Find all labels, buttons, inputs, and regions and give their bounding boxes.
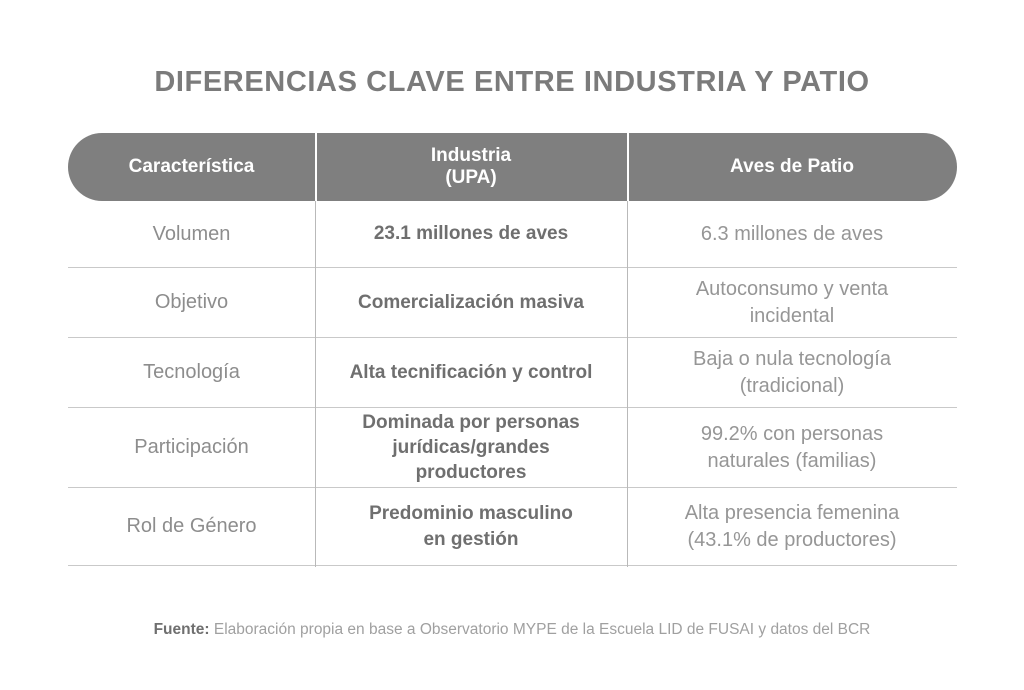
source-note: Fuente: Elaboración propia en base a Obs… (0, 621, 1024, 639)
cell-backyard: 99.2% con personas naturales (familias) (627, 408, 957, 487)
column-header-industria: Industria (UPA) (315, 133, 627, 201)
column-header-industria-line2: (UPA) (431, 167, 511, 189)
cell-industry: Alta tecnificación y control (315, 338, 627, 407)
table-header-row: Característica Industria (UPA) Aves de P… (68, 133, 957, 201)
table-row: Rol de Género Predominio masculino en ge… (68, 488, 957, 566)
cell-industry: Dominada por personas jurídicas/grandes … (315, 408, 627, 487)
table-row: Objetivo Comercialización masiva Autocon… (68, 268, 957, 338)
cell-industry-line2: jurídicas/grandes (362, 435, 580, 460)
cell-industry-line1: 23.1 millones de aves (374, 221, 568, 246)
cell-industry-line1: Predominio masculino (369, 501, 573, 526)
table-body: Volumen 23.1 millones de aves 6.3 millon… (68, 201, 957, 566)
cell-industry-line1: Comercialización masiva (358, 290, 584, 315)
cell-backyard-line2: naturales (familias) (701, 448, 883, 474)
cell-backyard-line1: Autoconsumo y venta (696, 276, 888, 302)
column-header-aves-de-patio: Aves de Patio (627, 133, 957, 201)
column-header-caracteristica-line1: Característica (129, 156, 255, 178)
column-header-aves-de-patio-line1: Aves de Patio (730, 156, 854, 178)
cell-feature: Objetivo (68, 268, 315, 337)
cell-industry-line1: Dominada por personas (362, 410, 580, 435)
cell-backyard-line2: (tradicional) (693, 373, 891, 399)
cell-industry: 23.1 millones de aves (315, 201, 627, 267)
table-row: Participación Dominada por personas jurí… (68, 408, 957, 488)
column-header-industria-line1: Industria (431, 145, 511, 167)
cell-backyard: Autoconsumo y venta incidental (627, 268, 957, 337)
source-label: Fuente: (154, 621, 210, 638)
cell-backyard: Baja o nula tecnología (tradicional) (627, 338, 957, 407)
cell-industry-line1: Alta tecnificación y control (350, 360, 593, 385)
comparison-table: Característica Industria (UPA) Aves de P… (68, 133, 957, 566)
cell-industry-line2: en gestión (369, 527, 573, 552)
cell-backyard: 6.3 millones de aves (627, 201, 957, 267)
cell-backyard: Alta presencia femenina (43.1% de produc… (627, 488, 957, 565)
cell-industry: Predominio masculino en gestión (315, 488, 627, 565)
table-row: Tecnología Alta tecnificación y control … (68, 338, 957, 408)
cell-feature: Volumen (68, 201, 315, 267)
column-header-caracteristica: Característica (68, 133, 315, 201)
cell-industry: Comercialización masiva (315, 268, 627, 337)
infographic-table-page: DIFERENCIAS CLAVE ENTRE INDUSTRIA Y PATI… (0, 0, 1024, 690)
page-title: DIFERENCIAS CLAVE ENTRE INDUSTRIA Y PATI… (0, 66, 1024, 99)
cell-backyard-line1: Baja o nula tecnología (693, 346, 891, 372)
cell-backyard-line2: incidental (696, 303, 888, 329)
cell-backyard-line1: Alta presencia femenina (685, 500, 900, 526)
cell-backyard-line1: 6.3 millones de aves (701, 221, 883, 247)
source-text: Elaboración propia en base a Observatori… (210, 621, 871, 638)
cell-industry-line3: productores (362, 460, 580, 485)
cell-feature: Participación (68, 408, 315, 487)
cell-feature: Rol de Género (68, 488, 315, 565)
cell-backyard-line2: (43.1% de productores) (685, 527, 900, 553)
table-row: Volumen 23.1 millones de aves 6.3 millon… (68, 201, 957, 268)
cell-feature: Tecnología (68, 338, 315, 407)
cell-backyard-line1: 99.2% con personas (701, 421, 883, 447)
